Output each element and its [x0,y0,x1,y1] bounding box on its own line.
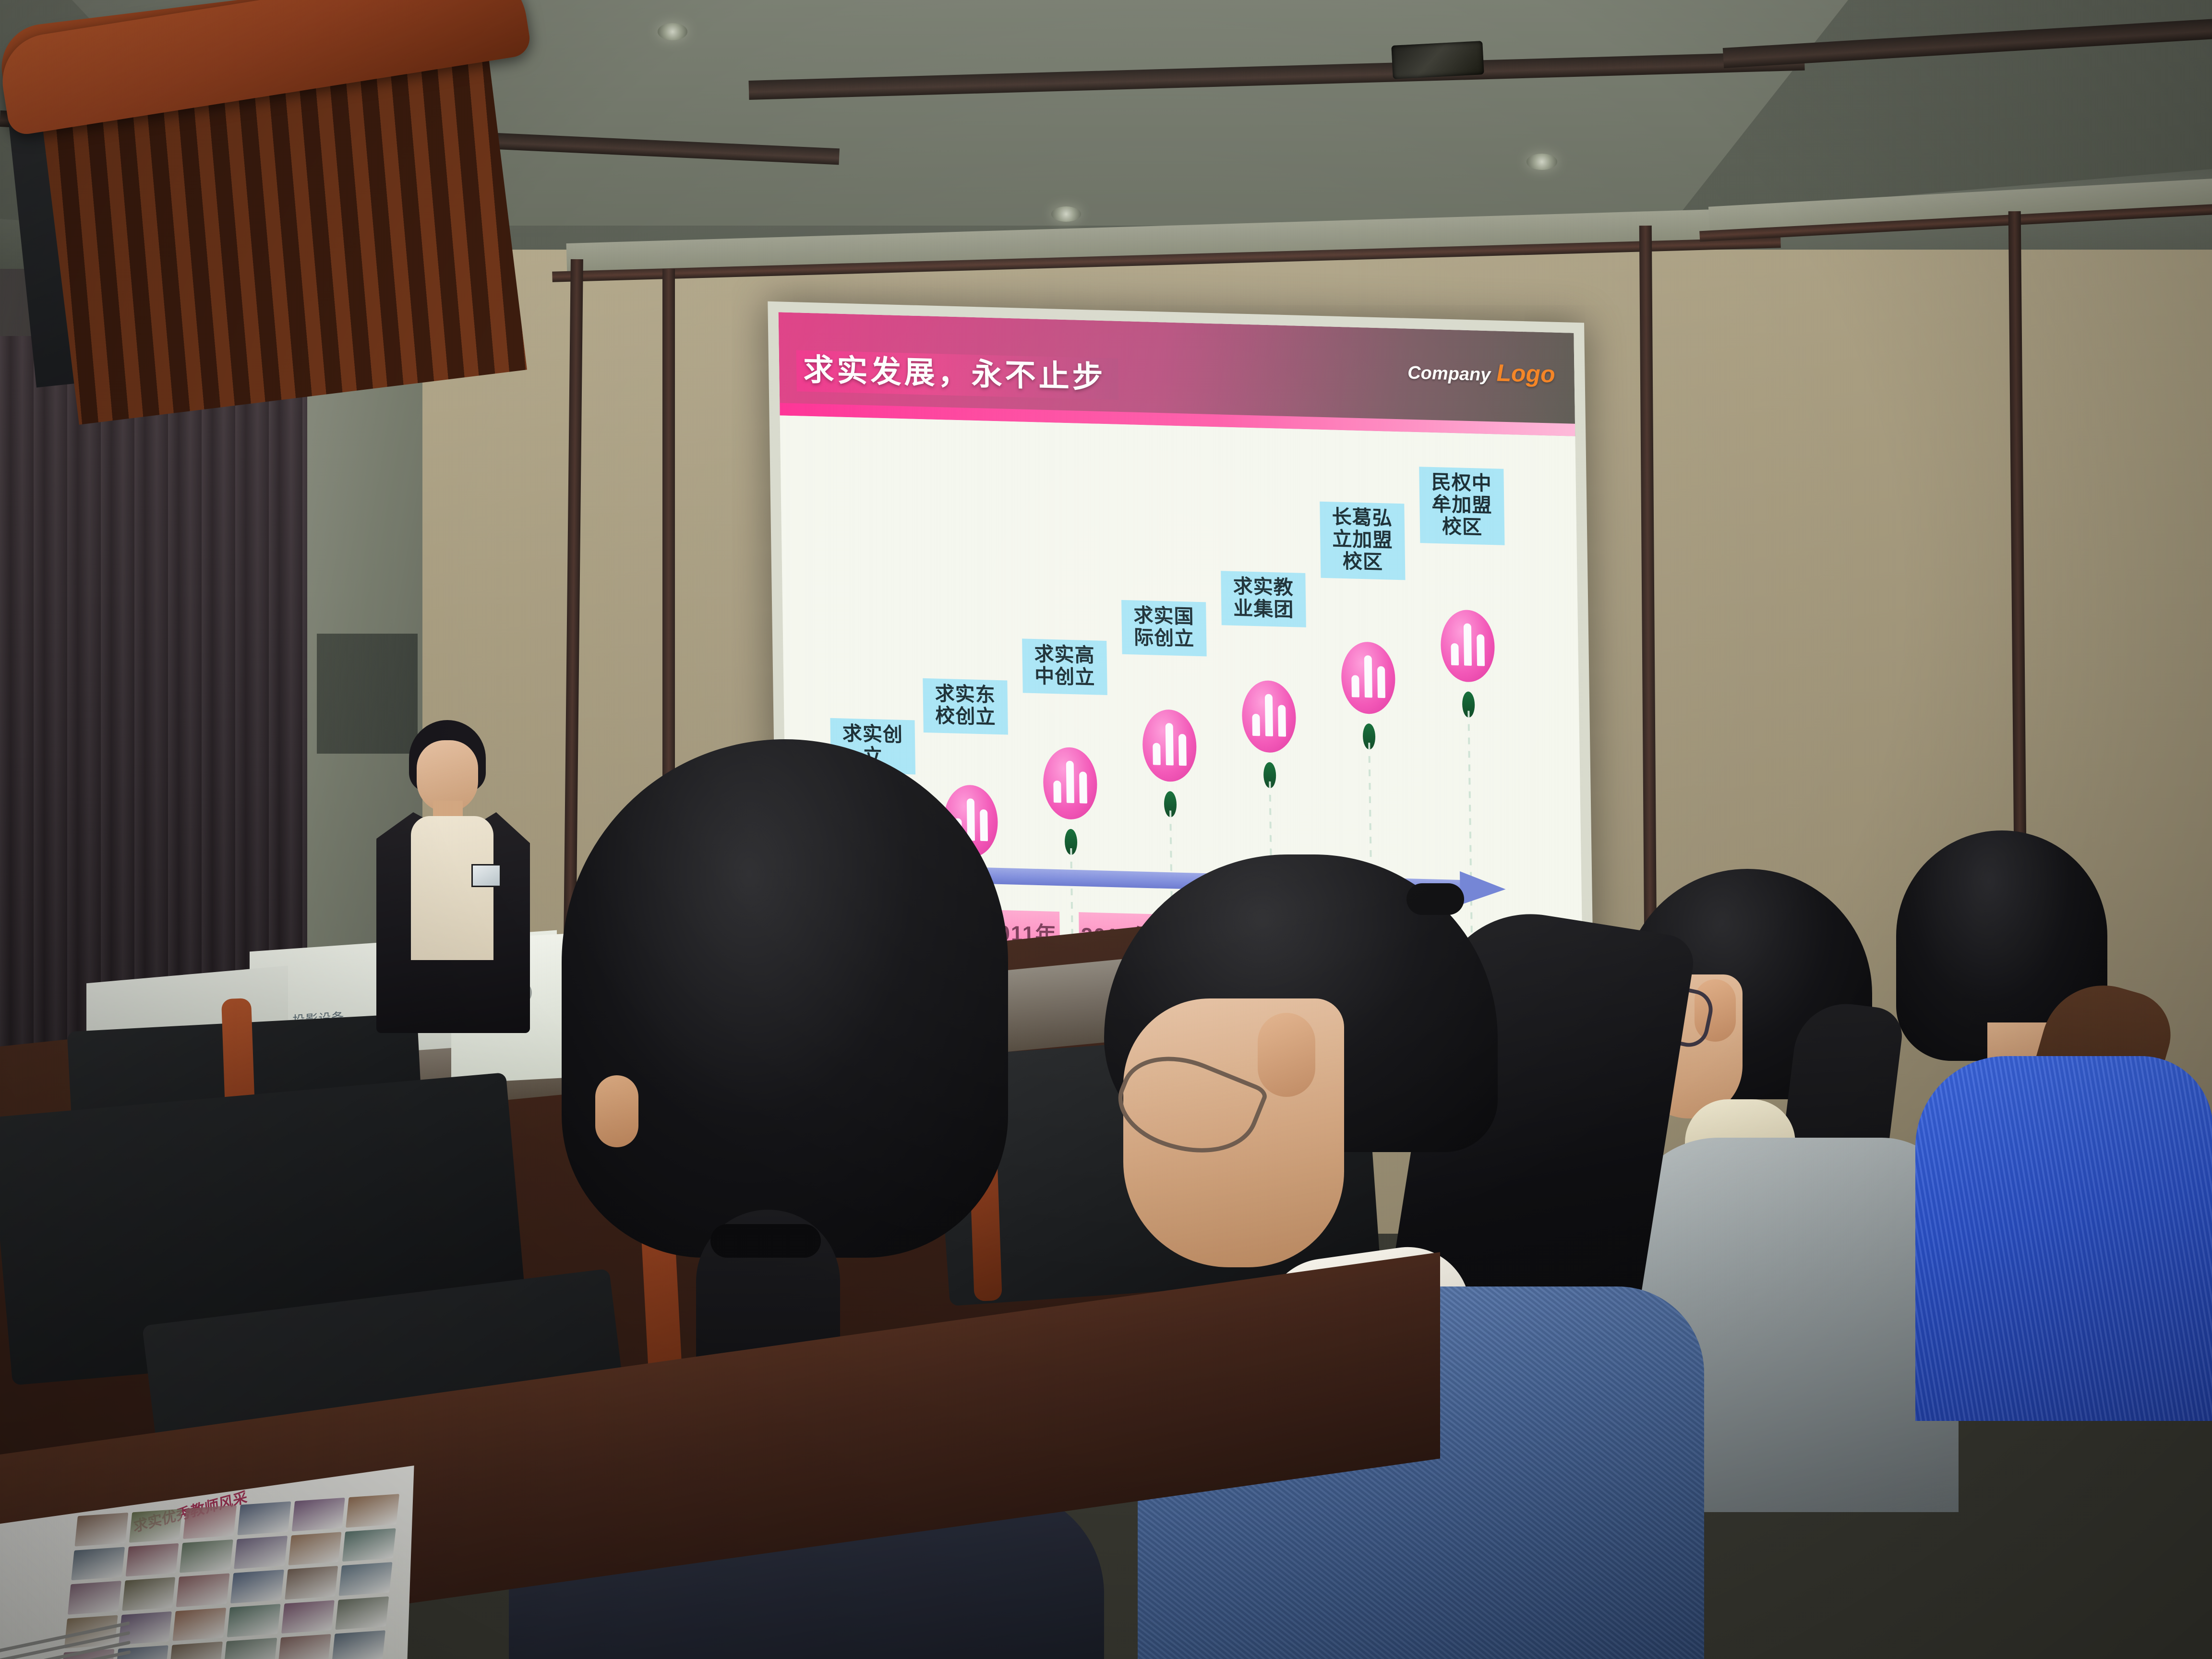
handout-thumbnail [342,1528,396,1562]
handout-thumbnail [125,1543,179,1576]
handout-thumbnail [122,1577,176,1611]
handout-thumbnail [346,1494,399,1527]
handout-thumbnail [281,1600,335,1634]
presenter-name-badge [471,864,501,887]
aud1-hair [562,739,1008,1258]
bar-chart-icon-7 [1440,609,1495,683]
downlight-icon-1 [658,23,687,40]
handout-thumbnail [291,1498,345,1531]
handout-thumbnail [230,1570,284,1603]
milestone-label-6: 长葛弘立加盟校区 [1320,502,1405,580]
handout-thumbnail [285,1566,338,1599]
handout-thumbnail [75,1513,129,1546]
bar-chart-icon-6 [1341,641,1395,715]
handout-thumbnail [288,1532,342,1565]
milestone-label-2: 求实东校创立 [923,678,1008,734]
audience-far-right-blue [1887,830,2212,1416]
handout-thumbnail [336,1596,389,1630]
handout-thumbnail [223,1638,277,1659]
aud2-ear [1258,1013,1315,1097]
downlight-icon-4 [1527,154,1557,170]
handout-thumbnail [176,1574,230,1607]
aud2-hair-tie [1407,883,1464,915]
downlight-icon-3 [1051,206,1081,222]
aud4-sweater [1915,1056,2212,1421]
milestone-label-3: 求实高中创立 [1022,638,1107,695]
handout-thumbnail [129,1509,182,1542]
aud1-hair-tie [710,1224,821,1258]
handout-thumbnail [332,1631,385,1659]
aud1-ear [595,1075,638,1147]
milestone-label-4: 求实国际创立 [1121,600,1207,656]
handout-thumbnail [180,1539,233,1573]
milestone-label-7: 民权中牟加盟校区 [1419,467,1504,545]
slide-header: 求实发展，永不止步 Company Logo [779,312,1575,436]
handout-thumbnail [68,1581,121,1614]
milestone-label-5: 求实教业集团 [1221,571,1306,627]
handout-thumbnail [183,1505,237,1539]
handout-thumbnail [169,1642,223,1659]
handout-thumbnail [71,1547,125,1580]
bar-chart-icon-4 [1142,709,1197,782]
handout-thumbnail [173,1608,227,1641]
screenshot-root: 求实发展，永不止步 Company Logo 求实创立求实东校创立求实高中创立求… [0,0,2212,1659]
presenter-sweater [411,816,493,960]
handout-thumbnail [277,1634,331,1659]
air-vent-icon-2 [1391,41,1484,79]
handout-thumbnail [234,1536,288,1569]
handout-thumbnail [237,1502,291,1535]
logo-company-text: Company [1407,363,1491,386]
handout-thumbnail [227,1604,281,1637]
slide-title: 求实发展，永不止步 [796,350,1119,400]
handout-text-block [0,1622,131,1659]
bar-chart-icon-5 [1241,680,1296,753]
logo-word-text: Logo [1496,359,1555,388]
slide-logo: Company Logo [1407,357,1555,388]
audience-front-center [1075,854,1709,1659]
handout-thumbnail [339,1562,393,1596]
